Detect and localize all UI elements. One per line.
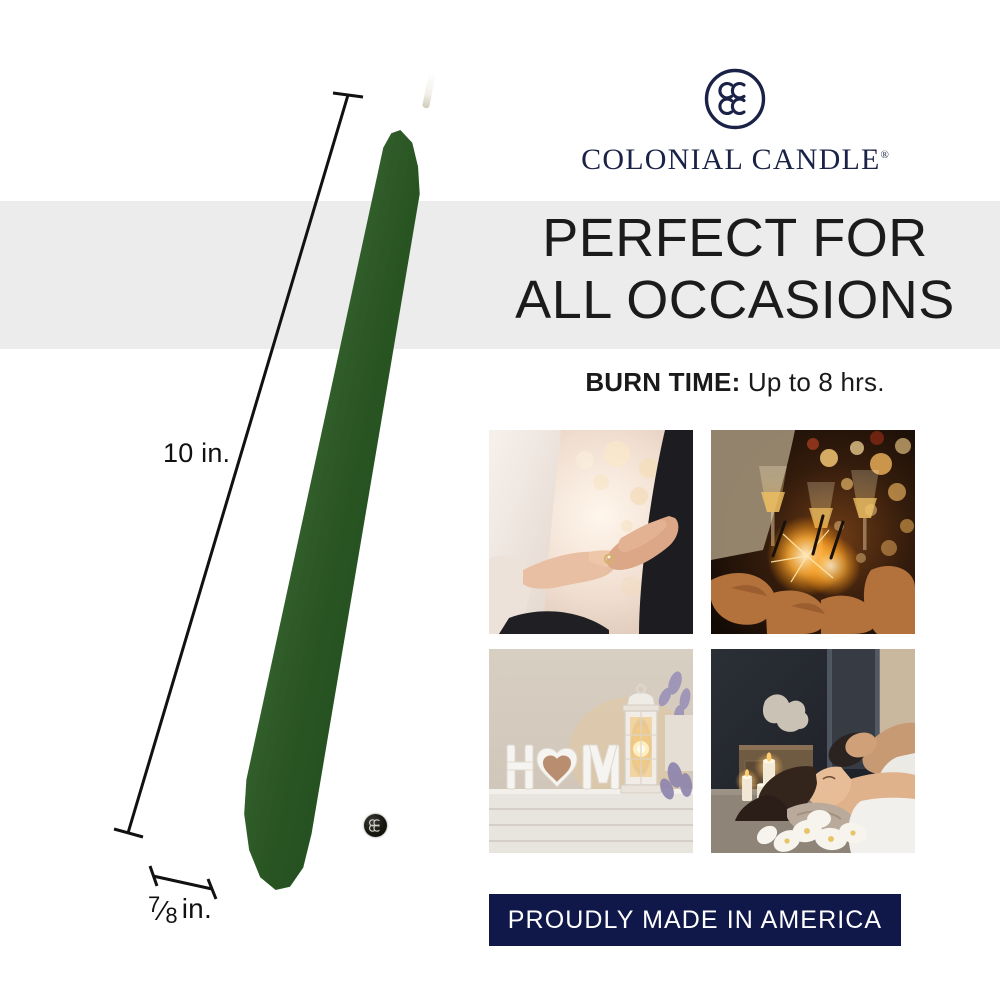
wedding-ring-exchange-photo	[489, 430, 693, 634]
headline-line-2: ALL OCCASIONS	[470, 269, 1000, 331]
dimension-lines	[0, 0, 470, 1000]
cc-monogram-circle-icon	[704, 68, 766, 130]
candle-height-label: 10 in.	[163, 438, 230, 469]
width-fraction-denominator: 8	[165, 903, 177, 929]
brand-wordmark: COLONIAL CANDLE®	[581, 143, 889, 177]
burn-time-row: BURN TIME: Up to 8 hrs.	[470, 367, 1000, 398]
width-fraction: 7⁄8	[148, 895, 178, 927]
brand-name-text: COLONIAL CANDLE	[581, 143, 880, 176]
banner-text: PROUDLY MADE IN AMERICA	[508, 906, 882, 935]
made-in-america-banner: PROUDLY MADE IN AMERICA	[489, 894, 901, 946]
burn-time-value: Up to 8 hrs.	[748, 367, 885, 397]
burn-time-label: BURN TIME:	[585, 367, 740, 397]
page-title: PERFECT FOR ALL OCCASIONS	[470, 207, 1000, 331]
width-dimension-line	[153, 876, 212, 889]
width-fraction-numerator: 7	[148, 892, 160, 918]
headline-line-1: PERFECT FOR	[542, 208, 928, 268]
marketing-content-panel: COLONIAL CANDLE® PERFECT FOR ALL OCCASIO…	[470, 0, 1000, 1000]
height-dimension-line	[128, 95, 348, 833]
candle-width-label: 7⁄8 in.	[148, 893, 212, 927]
width-unit-label: in.	[182, 893, 212, 925]
spa-relaxation-photo	[711, 649, 915, 853]
brand-logo-block: COLONIAL CANDLE®	[470, 68, 1000, 177]
home-lantern-decor-photo	[489, 649, 693, 853]
product-infographic: 10 in. 7⁄8 in. COLONIAL CANDLE® PERFECT …	[0, 0, 1000, 1000]
registered-mark: ®	[881, 149, 889, 161]
product-illustration-panel: 10 in. 7⁄8 in.	[0, 0, 470, 1000]
lifestyle-photo-grid	[489, 430, 930, 853]
champagne-sparklers-toast-photo	[711, 430, 915, 634]
